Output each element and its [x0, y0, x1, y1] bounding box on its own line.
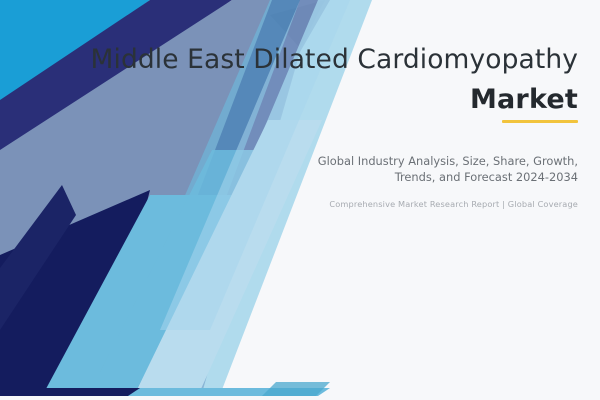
accent-underline-rule	[502, 120, 578, 123]
report-cover: Middle East Dilated Cardiomyopathy Marke…	[0, 0, 600, 400]
page-title: Middle East Dilated Cardiomyopathy	[20, 43, 578, 77]
subtitle: Global Industry Analysis, Size, Share, G…	[200, 154, 578, 185]
tagline: Comprehensive Market Research Report | G…	[200, 199, 578, 210]
title-emphasis-group: Market	[470, 84, 578, 123]
title-emphasis-word: Market	[470, 84, 578, 116]
subtitle-line-1: Global Industry Analysis, Size, Share, G…	[200, 154, 578, 170]
cover-content: Middle East Dilated Cardiomyopathy Marke…	[0, 0, 600, 400]
subtitle-line-2: Trends, and Forecast 2024-2034	[200, 170, 578, 186]
